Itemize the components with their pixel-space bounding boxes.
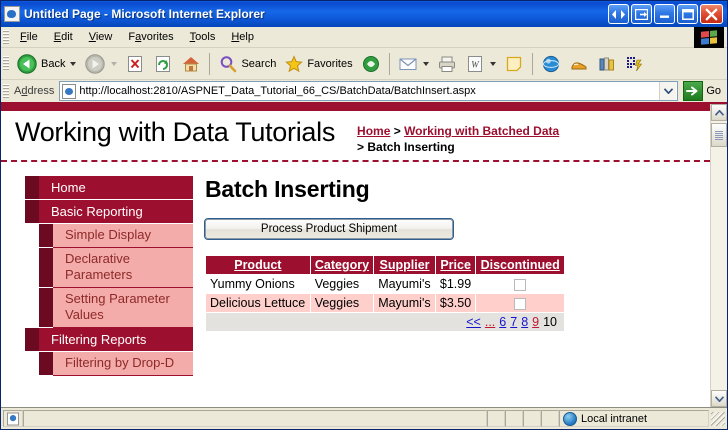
globe-blue-icon xyxy=(541,54,561,74)
window-title: Untitled Page - Microsoft Internet Explo… xyxy=(24,7,608,21)
scrollbar-track[interactable] xyxy=(711,121,727,390)
forward-dropdown-icon[interactable] xyxy=(111,62,117,66)
status-slot-4 xyxy=(541,410,559,427)
page-viewport: Working with Data Tutorials Home > Worki… xyxy=(1,104,727,408)
cell-product: Delicious Lettuce xyxy=(206,294,311,313)
back-dropdown-icon[interactable] xyxy=(70,62,76,66)
sidebar-item-setting-parameter-values[interactable]: Setting Parameter Values xyxy=(53,288,193,328)
address-label: Address xyxy=(14,85,54,97)
refresh-button[interactable] xyxy=(149,52,177,76)
menu-edit[interactable]: Edit xyxy=(46,29,81,45)
pager-page-6[interactable]: 6 xyxy=(499,315,506,329)
security-zone-label: Local intranet xyxy=(581,413,647,425)
pager-page-9[interactable]: 9 xyxy=(532,315,539,329)
star-icon xyxy=(284,54,304,74)
stop-button[interactable] xyxy=(121,52,149,76)
vertical-scrollbar[interactable] xyxy=(710,104,727,407)
menu-help[interactable]: Help xyxy=(223,29,262,45)
address-input[interactable]: http://localhost:2810/ASPNET_Data_Tutori… xyxy=(59,81,678,101)
pager-page-7[interactable]: 7 xyxy=(510,315,517,329)
status-slot-3 xyxy=(523,410,541,427)
pager-first[interactable]: << xyxy=(466,315,481,329)
column-header-supplier[interactable]: Supplier xyxy=(374,256,436,275)
column-header-product[interactable]: Product xyxy=(206,256,311,275)
toolbar-gripper[interactable] xyxy=(3,56,9,71)
cell-category: Veggies xyxy=(310,294,373,313)
media-icon xyxy=(361,54,381,74)
intranet-globe-icon xyxy=(563,412,577,426)
page-top-accent-bar xyxy=(1,104,710,111)
mail-button[interactable] xyxy=(394,52,433,76)
pager-cell: <<...678910 xyxy=(206,313,565,332)
favorites-label: Favorites xyxy=(307,58,352,70)
scroll-up-icon[interactable] xyxy=(711,104,727,121)
notes-button[interactable] xyxy=(500,52,528,76)
refresh-icon xyxy=(153,54,173,74)
printer-icon xyxy=(437,54,457,74)
process-product-shipment-button[interactable]: Process Product Shipment xyxy=(205,219,453,239)
forward-arrow-icon xyxy=(84,53,106,75)
sidebar-nav: Home Basic Reporting Simple Display Decl… xyxy=(1,162,193,376)
edit-dropdown-icon[interactable] xyxy=(490,62,496,66)
column-header-discontinued[interactable]: Discontinued xyxy=(476,256,565,275)
scroll-down-icon[interactable] xyxy=(711,390,727,407)
status-slot-2 xyxy=(505,410,523,427)
back-label: Back xyxy=(41,58,65,70)
page-doc-icon xyxy=(62,84,76,99)
mail-dropdown-icon[interactable] xyxy=(423,62,429,66)
shoe-button[interactable] xyxy=(565,52,593,76)
breadcrumb-sep-1: > xyxy=(390,124,404,138)
page-header: Working with Data Tutorials Home > Worki… xyxy=(1,111,710,162)
breadcrumb-link-section[interactable]: Working with Batched Data xyxy=(404,124,559,138)
menu-file[interactable]: File xyxy=(12,29,46,45)
address-gripper[interactable] xyxy=(3,84,9,99)
breadcrumb-sep-2: > xyxy=(357,140,367,154)
column-header-category[interactable]: Category xyxy=(310,256,373,275)
word-icon: W xyxy=(465,54,485,74)
search-button[interactable]: Search xyxy=(214,52,280,76)
go-button[interactable]: Go xyxy=(678,81,725,101)
research-button[interactable] xyxy=(593,52,621,76)
home-button[interactable] xyxy=(177,52,205,76)
cell-supplier: Mayumi's xyxy=(374,275,436,294)
cell-discontinued xyxy=(476,275,565,294)
sidebar-item-basic-reporting[interactable]: Basic Reporting xyxy=(39,200,193,224)
search-label: Search xyxy=(241,58,276,70)
column-header-price[interactable]: Price xyxy=(435,256,475,275)
discontinued-checkbox[interactable] xyxy=(514,298,526,310)
status-bar: Local intranet xyxy=(1,408,727,429)
messenger-button[interactable] xyxy=(537,52,565,76)
browser-window: Untitled Page - Microsoft Internet Explo… xyxy=(0,0,728,430)
search-icon xyxy=(218,54,238,74)
pager-ellipsis[interactable]: ... xyxy=(485,315,495,329)
security-zone[interactable]: Local intranet xyxy=(559,410,709,427)
minimize-icon[interactable] xyxy=(654,4,675,24)
products-grid: Product Category Supplier Price Disconti… xyxy=(205,255,565,332)
sidebar-item-declarative-parameters[interactable]: Declarative Parameters xyxy=(53,248,193,288)
panel-toggle-icon[interactable] xyxy=(631,4,652,24)
go-label: Go xyxy=(706,85,721,97)
status-slot-1 xyxy=(487,410,505,427)
maximize-icon[interactable] xyxy=(677,4,698,24)
cell-product: Yummy Onions xyxy=(206,275,311,294)
table-row: Delicious Lettuce Veggies Mayumi's $3.50 xyxy=(206,294,565,313)
ie-app-icon xyxy=(4,6,20,22)
menu-view[interactable]: View xyxy=(81,29,121,45)
web-page: Working with Data Tutorials Home > Worki… xyxy=(1,104,710,407)
menu-favorites[interactable]: Favorites xyxy=(120,29,181,45)
page-body: Home Basic Reporting Simple Display Decl… xyxy=(1,162,710,376)
books-icon xyxy=(597,54,617,74)
status-doc-icon xyxy=(3,410,23,427)
stop-icon xyxy=(125,54,145,74)
qrcode-button[interactable] xyxy=(621,52,649,76)
title-bar: Untitled Page - Microsoft Internet Explo… xyxy=(1,1,727,27)
scrollbar-thumb[interactable] xyxy=(711,123,727,147)
restore-down-icon[interactable] xyxy=(608,4,629,24)
forward-button[interactable] xyxy=(80,51,121,77)
breadcrumb: Home > Working with Batched Data > Batch… xyxy=(335,114,559,155)
cell-price: $1.99 xyxy=(435,275,475,294)
cell-price: $3.50 xyxy=(435,294,475,313)
close-icon[interactable] xyxy=(700,4,723,24)
address-url-text: http://localhost:2810/ASPNET_Data_Tutori… xyxy=(79,85,659,97)
sidebar-item-filtering-by-dropdown[interactable]: Filtering by Drop-D xyxy=(53,352,193,376)
toolbar-separator-3 xyxy=(532,53,533,75)
navigation-toolbar: Back xyxy=(1,48,727,80)
cell-category: Veggies xyxy=(310,275,373,294)
home-icon xyxy=(181,54,201,74)
sidebar-item-home[interactable]: Home xyxy=(39,176,193,200)
menu-bar: File Edit View Favorites Tools Help xyxy=(1,27,727,48)
window-controls xyxy=(608,4,725,24)
breadcrumb-current: Batch Inserting xyxy=(367,140,454,154)
edit-word-button[interactable]: W xyxy=(461,52,500,76)
qr-code-icon xyxy=(625,54,645,74)
grid-pager-row: <<...678910 xyxy=(206,313,565,332)
media-button[interactable] xyxy=(357,52,385,76)
breadcrumb-link-home[interactable]: Home xyxy=(357,124,390,138)
print-button[interactable] xyxy=(433,52,461,76)
cell-supplier: Mayumi's xyxy=(374,294,436,313)
sidebar-item-simple-display[interactable]: Simple Display xyxy=(53,224,193,248)
favorites-button[interactable]: Favorites xyxy=(280,52,356,76)
back-arrow-icon xyxy=(16,53,38,75)
windows-logo-icon xyxy=(694,27,724,48)
back-button[interactable]: Back xyxy=(12,51,80,77)
address-bar: Address http://localhost:2810/ASPNET_Dat… xyxy=(1,80,727,104)
shoe-icon xyxy=(569,54,589,74)
main-content: Batch Inserting Process Product Shipment… xyxy=(193,162,710,332)
menu-tools[interactable]: Tools xyxy=(182,29,224,45)
site-title: Working with Data Tutorials xyxy=(1,114,335,150)
pager-page-8[interactable]: 8 xyxy=(521,315,528,329)
toolbar-separator xyxy=(209,53,210,75)
discontinued-checkbox[interactable] xyxy=(514,279,526,291)
page-title: Batch Inserting xyxy=(205,176,698,203)
table-row: Yummy Onions Veggies Mayumi's $1.99 xyxy=(206,275,565,294)
sidebar-item-filtering-reports[interactable]: Filtering Reports xyxy=(39,328,193,352)
resize-grip[interactable] xyxy=(711,412,725,426)
toolbar-separator-2 xyxy=(389,53,390,75)
status-message xyxy=(23,410,487,427)
grid-header-row: Product Category Supplier Price Disconti… xyxy=(206,256,565,275)
address-dropdown-icon[interactable] xyxy=(659,82,676,100)
mail-icon xyxy=(398,54,418,74)
pager-page-current: 10 xyxy=(543,315,557,329)
note-icon xyxy=(504,54,524,74)
cell-discontinued xyxy=(476,294,565,313)
go-arrow-icon xyxy=(683,81,703,101)
menu-gripper[interactable] xyxy=(3,30,9,45)
